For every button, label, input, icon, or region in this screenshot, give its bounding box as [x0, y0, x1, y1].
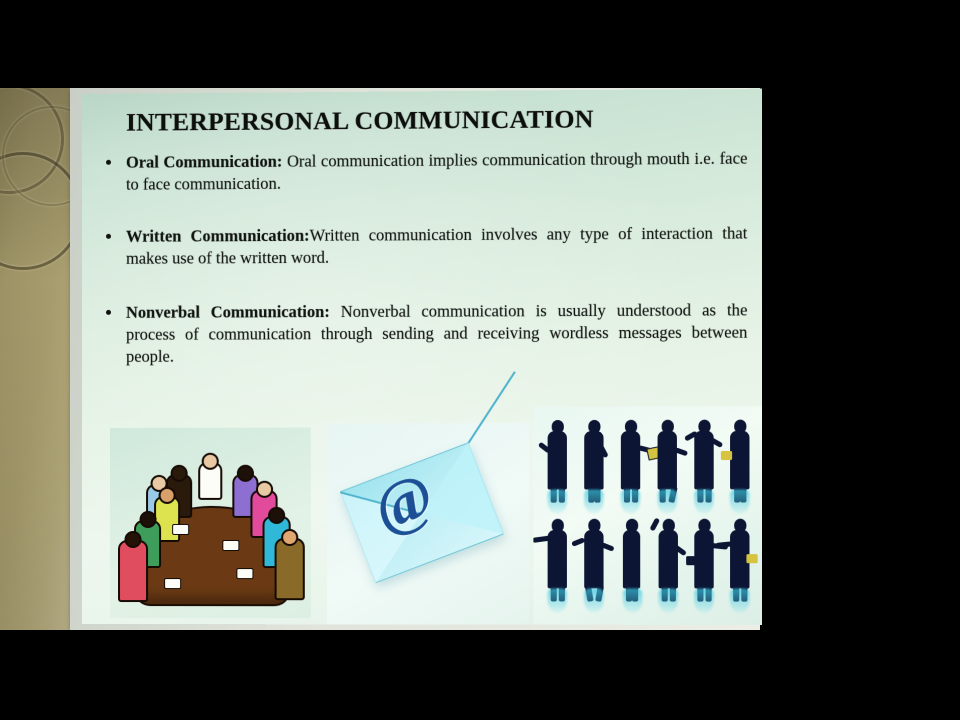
silhouette-reflection — [658, 489, 677, 513]
silhouette-briefcase — [686, 556, 697, 565]
meeting-person-head — [159, 487, 176, 504]
bullet-item-written: Written Communication:Written communicat… — [100, 222, 747, 270]
silhouette-row-bottom — [533, 514, 761, 615]
slide-title: INTERPERSONAL COMMUNICATION — [126, 104, 594, 138]
silhouette-head — [698, 519, 710, 532]
silhouette-arm — [684, 431, 698, 442]
silhouette-arm — [674, 447, 688, 456]
meeting-clipart-image — [110, 428, 311, 619]
meeting-person — [118, 540, 148, 602]
silhouette-figure — [621, 431, 640, 490]
bullet-lead-oral: Oral Communication: — [126, 152, 282, 172]
silhouette-figure-handshake-left — [694, 530, 713, 589]
silhouette-head — [551, 519, 563, 532]
envelope-graphic: @ — [340, 442, 504, 583]
silhouette-reflection — [548, 588, 567, 612]
silhouette-head — [698, 420, 710, 433]
slide-image-strip: @ — [82, 396, 762, 625]
bullet-dot-icon — [106, 310, 111, 315]
silhouette-arm-pointing — [533, 535, 550, 542]
meeting-paper — [172, 524, 189, 535]
meeting-person-head — [268, 507, 285, 524]
silhouette-arm-handshake — [716, 541, 733, 547]
silhouette-head — [588, 519, 600, 532]
bullet-item-nonverbal: Nonverbal Communication: Nonverbal commu… — [100, 299, 747, 368]
email-envelope-image: @ — [327, 423, 529, 625]
silhouette-head — [625, 519, 637, 532]
silhouette-head — [734, 420, 746, 433]
silhouette-reflection — [584, 588, 603, 612]
wall-ring-icon — [0, 88, 64, 194]
silhouette-briefcase — [746, 554, 757, 563]
meeting-person — [275, 538, 305, 600]
bullet-lead-written: Written Communication: — [126, 226, 310, 246]
silhouette-figure — [694, 431, 713, 490]
silhouette-figure — [658, 431, 677, 490]
silhouette-head — [734, 519, 746, 532]
silhouette-figure — [584, 530, 603, 589]
silhouette-reflection — [694, 489, 713, 513]
meeting-person-head — [255, 481, 272, 498]
silhouette-reflection — [694, 588, 713, 612]
silhouette-arm-raised — [649, 517, 659, 531]
slide-bullet-list: Oral Communication: Oral communication i… — [100, 147, 747, 393]
meeting-paper — [236, 568, 253, 579]
silhouette-figure — [548, 431, 567, 490]
meeting-paper — [164, 578, 181, 589]
projection-screen-frame: INTERPERSONAL COMMUNICATION Oral Communi… — [70, 88, 760, 630]
room-photo: INTERPERSONAL COMMUNICATION Oral Communi… — [0, 88, 960, 630]
meeting-person — [198, 462, 222, 500]
screenshot-stage: INTERPERSONAL COMMUNICATION Oral Communi… — [0, 0, 960, 720]
letterbox-bar-bottom — [0, 630, 960, 720]
silhouette-reflection — [730, 588, 749, 612]
meeting-person-head — [139, 511, 156, 528]
bullet-item-oral: Oral Communication: Oral communication i… — [100, 147, 747, 195]
meeting-paper — [222, 540, 239, 551]
silhouette-arm — [709, 437, 723, 447]
silhouette-row-top — [533, 414, 761, 515]
business-silhouettes-image — [533, 406, 761, 625]
silhouette-reflection — [623, 588, 642, 612]
meeting-person-head — [202, 453, 219, 470]
bullet-dot-icon — [106, 160, 111, 165]
meeting-person-head — [237, 465, 254, 482]
silhouette-reflection — [730, 489, 749, 513]
silhouette-arm — [538, 442, 551, 454]
letterbox-bar-top — [0, 0, 960, 88]
silhouette-head — [662, 519, 674, 532]
silhouette-figure — [584, 431, 603, 490]
bullet-lead-nonverbal: Nonverbal Communication: — [126, 302, 330, 322]
silhouette-reflection — [621, 489, 640, 513]
silhouette-reflection — [548, 490, 567, 514]
silhouette-arm — [571, 537, 585, 546]
meeting-person-head — [281, 529, 298, 546]
silhouette-figure — [659, 530, 678, 589]
meeting-person-head — [125, 531, 142, 548]
silhouette-reflection — [584, 490, 603, 514]
silhouette-head — [588, 420, 600, 433]
silhouette-reflection — [659, 588, 678, 612]
silhouette-figure — [623, 530, 640, 589]
silhouette-figure-handshake-right — [730, 530, 749, 589]
silhouette-bag — [721, 451, 732, 460]
silhouette-arm — [598, 444, 608, 458]
silhouette-head — [661, 420, 673, 433]
silhouette-head — [551, 420, 563, 433]
bullet-dot-icon — [106, 234, 111, 239]
presentation-slide: INTERPERSONAL COMMUNICATION Oral Communi… — [82, 89, 762, 625]
silhouette-head — [624, 420, 636, 433]
silhouette-arm — [674, 544, 687, 555]
silhouette-arm — [601, 542, 615, 551]
silhouette-figure — [548, 530, 567, 588]
meeting-person-head — [171, 465, 188, 482]
silhouette-figure — [730, 431, 749, 490]
